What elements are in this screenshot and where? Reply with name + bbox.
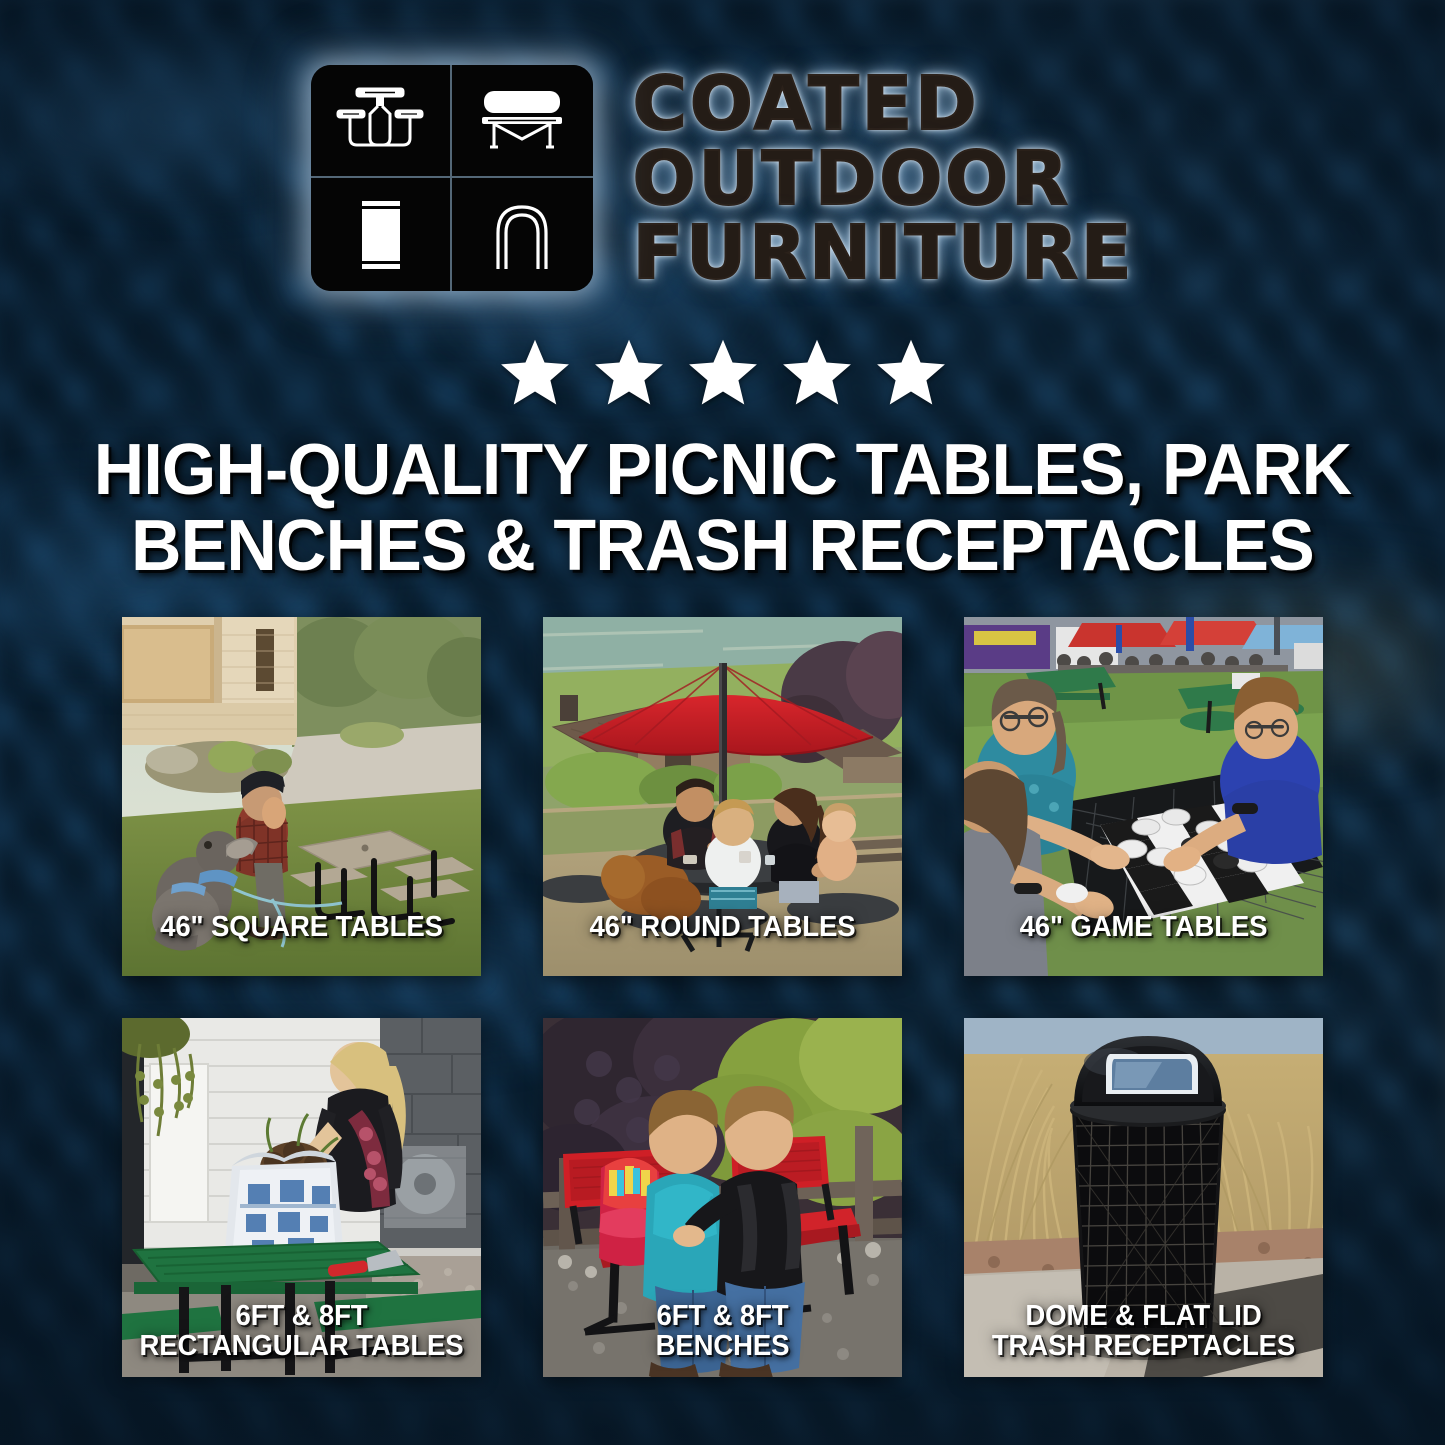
- brand-header: COATED OUTDOOR FURNITURE: [0, 58, 1445, 298]
- product-caption: 46" GAME TABLES: [979, 912, 1309, 942]
- headline-line-2: BENCHES & TRASH RECEPTACLES: [80, 508, 1365, 584]
- brand-wordmark: COATED OUTDOOR FURNITURE: [633, 66, 1135, 290]
- star-rating: [0, 336, 1445, 410]
- star-icon: [874, 336, 948, 410]
- product-caption: DOME & FLAT LID TRASH RECEPTACLES: [979, 1301, 1309, 1361]
- bike-rack-arch-icon: [452, 178, 593, 291]
- star-icon: [686, 336, 760, 410]
- product-caption: 6FT & 8FT RECTANGULAR TABLES: [137, 1301, 467, 1361]
- brand-line-2: OUTDOOR: [633, 143, 1071, 216]
- product-caption: 46" SQUARE TABLES: [137, 912, 467, 942]
- product-card-square-tables[interactable]: 46" SQUARE TABLES: [122, 617, 481, 976]
- product-card-game-tables[interactable]: 46" GAME TABLES: [964, 617, 1323, 976]
- product-card-benches[interactable]: 6FT & 8FT BENCHES: [543, 1018, 902, 1377]
- product-card-trash-receptacles[interactable]: DOME & FLAT LID TRASH RECEPTACLES: [964, 1018, 1323, 1377]
- headline-line-1: HIGH-QUALITY PICNIC TABLES, PARK: [80, 432, 1365, 508]
- promotional-banner: COATED OUTDOOR FURNITURE HIGH-QUALITY PI…: [0, 0, 1445, 1445]
- product-card-round-tables[interactable]: 46" ROUND TABLES: [543, 617, 902, 976]
- trash-receptacle-icon: [311, 178, 452, 291]
- star-icon: [498, 336, 572, 410]
- star-icon: [592, 336, 666, 410]
- product-grid: 46" SQUARE TABLES: [122, 617, 1323, 1377]
- page-title: HIGH-QUALITY PICNIC TABLES, PARK BENCHES…: [80, 432, 1365, 585]
- bench-icon: [452, 65, 593, 178]
- brand-logo-mark: [311, 65, 593, 291]
- product-card-rectangular-tables[interactable]: 6FT & 8FT RECTANGULAR TABLES: [122, 1018, 481, 1377]
- brand-line-1: COATED: [633, 68, 980, 141]
- product-caption: 46" ROUND TABLES: [558, 912, 888, 942]
- star-icon: [780, 336, 854, 410]
- brand-line-3: FURNITURE: [633, 217, 1135, 290]
- picnic-table-icon: [311, 65, 452, 178]
- product-caption: 6FT & 8FT BENCHES: [558, 1301, 888, 1361]
